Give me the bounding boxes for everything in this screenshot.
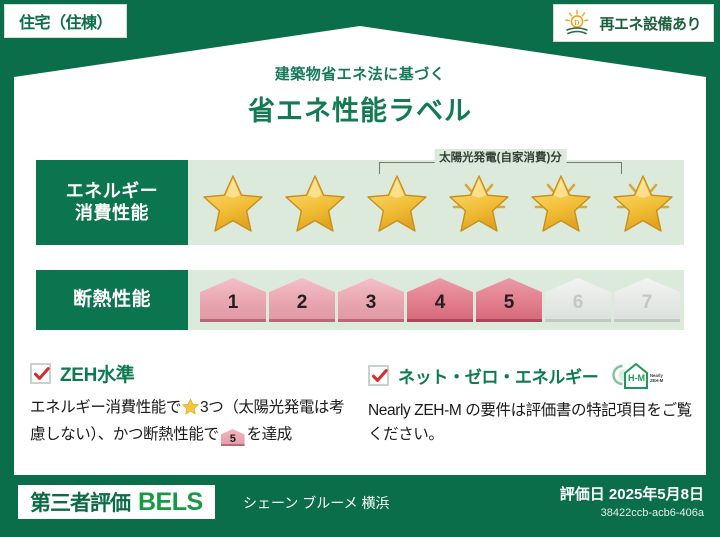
insulation-level-1: 1 [200,278,266,322]
energy-label-line2: 消費性能 [75,203,149,225]
insulation-level-7: 7 [614,278,680,322]
insulation-level-scale: 1234567 [188,270,684,330]
insulation-level-number: 5 [504,292,515,314]
insulation-scale-area: 1234567 [188,270,684,330]
insulation-performance-row: 断熱性能 1234567 [36,270,684,330]
star-2 [274,160,356,245]
solar-sun-icon: D [562,8,592,38]
renewable-energy-badge: D 再エネ設備あり [553,4,714,42]
net-zero-energy-checkbox[interactable] [368,365,389,386]
zeh-body-part1: エネルギー消費性能で [30,399,181,416]
insulation-level-number: 2 [297,292,308,314]
net-zero-energy-panel: ネット・ゼロ・エネルギー H-M Nearly ZEH-M Nearly ZEH… [368,360,698,447]
energy-stars-area: 太陽光発電(自家消費)分 [188,160,684,245]
zeh-standard-title: ZEH水準 [60,360,135,387]
label-footer: 第三者評価 BELS シェーン ブルーメ 横浜 評価日 2025年5月8日 38… [0,475,720,537]
insulation-label-text: 断熱性能 [73,288,151,311]
insulation-level-number: 3 [366,292,377,314]
renewable-energy-label: 再エネ設備あり [599,13,701,34]
insulation-level-6: 6 [545,278,611,322]
energy-label-line1: エネルギー [66,181,159,203]
insulation-level-number: 6 [573,292,584,314]
svg-text:D: D [575,18,581,27]
title-main: 省エネ性能ラベル [0,89,720,128]
zeh-standard-checkbox[interactable] [30,363,51,384]
zeh-standard-body: エネルギー消費性能で3つ（太陽光発電は考慮しない）、かつ断熱性能で5を達成 [30,396,350,447]
solar-bracket: 太陽光発電(自家消費)分 [379,144,622,174]
solar-bracket-label: 太陽光発電(自家消費)分 [434,149,567,165]
svg-text:ZEH-M: ZEH-M [650,378,664,383]
building-type-label: 住宅（住棟） [19,9,112,33]
bels-en-label: BELS [138,488,203,517]
insulation-level-number: 4 [435,292,446,314]
insulation-performance-label: 断熱性能 [36,270,188,330]
building-name: シェーン ブルーメ 横浜 [243,493,390,513]
bels-certification-box: 第三者評価 BELS [18,485,215,519]
net-zero-energy-body: Nearly ZEH-M の要件は評価書の特記項目をご覧ください。 [368,399,698,447]
energy-performance-row: エネルギー 消費性能 太陽光発電(自家消費)分 [36,160,684,245]
insulation-level-number: 1 [228,292,239,314]
net-zero-energy-title: ネット・ゼロ・エネルギー [398,363,598,388]
insulation-level-number: 7 [642,292,653,314]
zeh-standard-panel: ZEH水準 エネルギー消費性能で3つ（太陽光発電は考慮しない）、かつ断熱性能で5… [30,360,350,447]
insulation-level-5: 5 [476,278,542,322]
label-title-block: 建築物省エネ法に基づく 省エネ性能ラベル [0,63,720,128]
zeh-m-logo-text: H-M [628,373,645,383]
insulation-level-2: 2 [269,278,335,322]
net-zero-energy-header: ネット・ゼロ・エネルギー H-M Nearly ZEH-M [368,360,698,390]
evaluation-id: 38422ccb-acb6-406a [560,507,704,519]
insulation-level-3: 3 [338,278,404,322]
evaluation-date: 評価日 2025年5月8日 [560,483,704,504]
building-type-badge: 住宅（住棟） [4,4,127,38]
bels-jp-label: 第三者評価 [30,487,130,517]
zeh-body-part3: を達成 [247,426,292,443]
insulation-level-4: 4 [407,278,473,322]
title-subtitle: 建築物省エネ法に基づく [0,63,720,84]
bels-energy-label: 住宅（住棟） D 再エネ設備あり 建築物省エネ法に基づく 省エネ性能ラベ [0,0,720,537]
evaluation-info: 評価日 2025年5月8日 38422ccb-acb6-406a [560,483,704,519]
zeh-standard-header: ZEH水準 [30,360,350,387]
energy-performance-label: エネルギー 消費性能 [36,160,188,245]
insulation-level-badge-inline: 5 [221,429,245,446]
star-icon [182,402,199,419]
insulation-level-badge-number: 5 [221,429,245,449]
zeh-m-house-logo: H-M Nearly ZEH-M [609,360,665,390]
star-1 [192,160,274,245]
